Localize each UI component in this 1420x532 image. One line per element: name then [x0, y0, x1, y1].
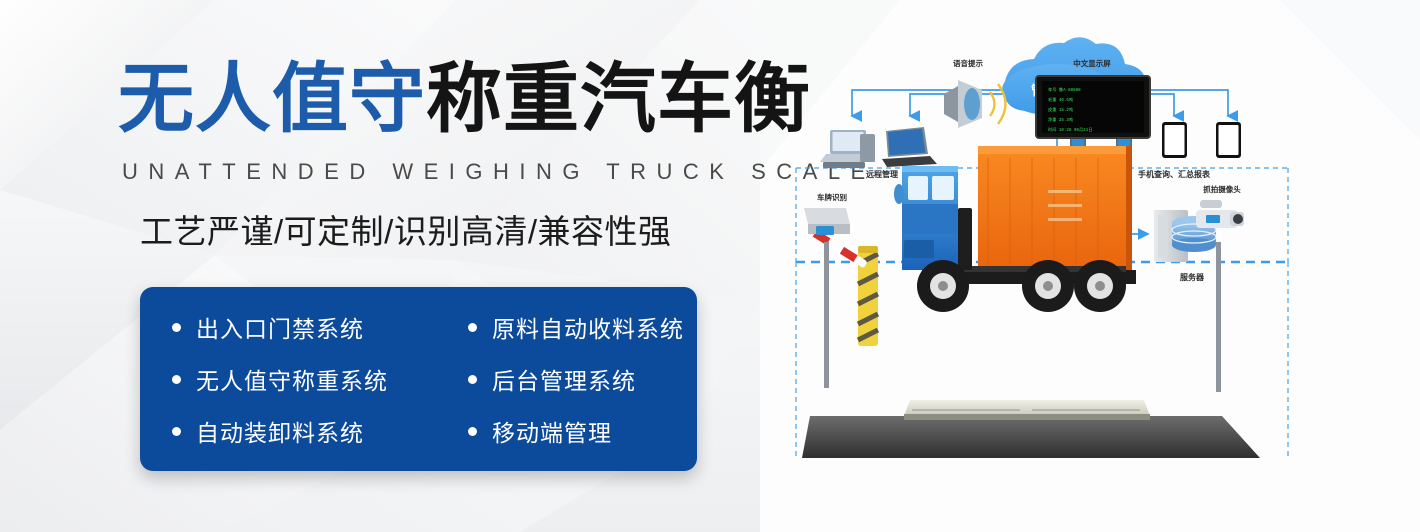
- bullet-dot-icon: [468, 375, 477, 384]
- headline-pane: 无人值守称重汽车衡 UNATTENDED WEIGHING TRUCK SCAL…: [0, 0, 760, 532]
- subtitle-english: UNATTENDED WEIGHING TRUCK SCALE: [122, 158, 876, 186]
- laptop-icon: [882, 127, 937, 167]
- feature-item-backend-management[interactable]: 后台管理系统: [468, 362, 729, 396]
- plate-recognition-label: 车牌识别: [817, 192, 847, 202]
- mobile-query-label: 手机查询、汇总报表: [1138, 169, 1211, 179]
- feature-item-unattended-weighing[interactable]: 无人值守称重系统: [172, 362, 468, 396]
- ground-surface: [802, 416, 1260, 458]
- voice-prompt-label: 语音提示: [953, 58, 983, 68]
- capture-camera-label: 抓拍摄像头: [1203, 184, 1241, 194]
- bullet-dot-icon: [172, 323, 181, 332]
- bullet-dot-icon: [468, 427, 477, 436]
- feature-item-auto-loading[interactable]: 自动装卸料系统: [172, 414, 468, 448]
- feature-label: 原料自动收料系统: [492, 310, 684, 344]
- page-title: 无人值守称重汽车衡: [118, 58, 811, 142]
- barrier-gate: [809, 228, 878, 346]
- feature-label: 后台管理系统: [492, 362, 636, 396]
- server-label: 服务器: [1180, 272, 1205, 282]
- feature-label: 出入口门禁系统: [196, 310, 364, 344]
- chinese-display-screen: 车号 鲁A·88888 毛重 40.5吨 皮重 15.2吨 净重 25.3吨 时…: [1036, 76, 1150, 138]
- feature-item-auto-material[interactable]: 原料自动收料系统: [468, 310, 729, 344]
- tablet-icon-2: [1216, 122, 1241, 158]
- desktop-computer-icon: [820, 130, 876, 168]
- feature-label: 无人值守称重系统: [196, 362, 388, 396]
- bullet-dot-icon: [172, 427, 181, 436]
- page-title-rest: 称重汽车衡: [426, 57, 811, 142]
- tablet-icon-1: [1162, 122, 1187, 158]
- dump-truck-illustration: [894, 146, 1136, 312]
- tagline: 工艺严谨/可定制/识别高清/兼容性强: [140, 210, 672, 254]
- feature-item-entry-access[interactable]: 出入口门禁系统: [172, 310, 468, 344]
- feature-list-box: 出入口门禁系统 原料自动收料系统 无人值守称重系统 后台管理系统 自动装卸料系统: [140, 287, 697, 471]
- feature-grid: 出入口门禁系统 原料自动收料系统 无人值守称重系统 后台管理系统 自动装卸料系统: [140, 287, 697, 471]
- weighbridge-platform: [904, 400, 1150, 420]
- page-title-highlight: 无人值守: [118, 57, 426, 142]
- chinese-display-label: 中文显示屏: [1073, 58, 1111, 68]
- feature-label: 自动装卸料系统: [196, 414, 364, 448]
- remote-management-label: 远程管理: [866, 169, 898, 179]
- promo-banner: 无人值守称重汽车衡 UNATTENDED WEIGHING TRUCK SCAL…: [0, 0, 1420, 532]
- bullet-dot-icon: [468, 323, 477, 332]
- feature-label: 移动端管理: [492, 414, 612, 448]
- bullet-dot-icon: [172, 375, 181, 384]
- voice-prompt-speaker-icon: [944, 80, 1006, 128]
- system-architecture-diagram: 管理平台: [782, 18, 1302, 488]
- feature-item-mobile-management[interactable]: 移动端管理: [468, 414, 729, 448]
